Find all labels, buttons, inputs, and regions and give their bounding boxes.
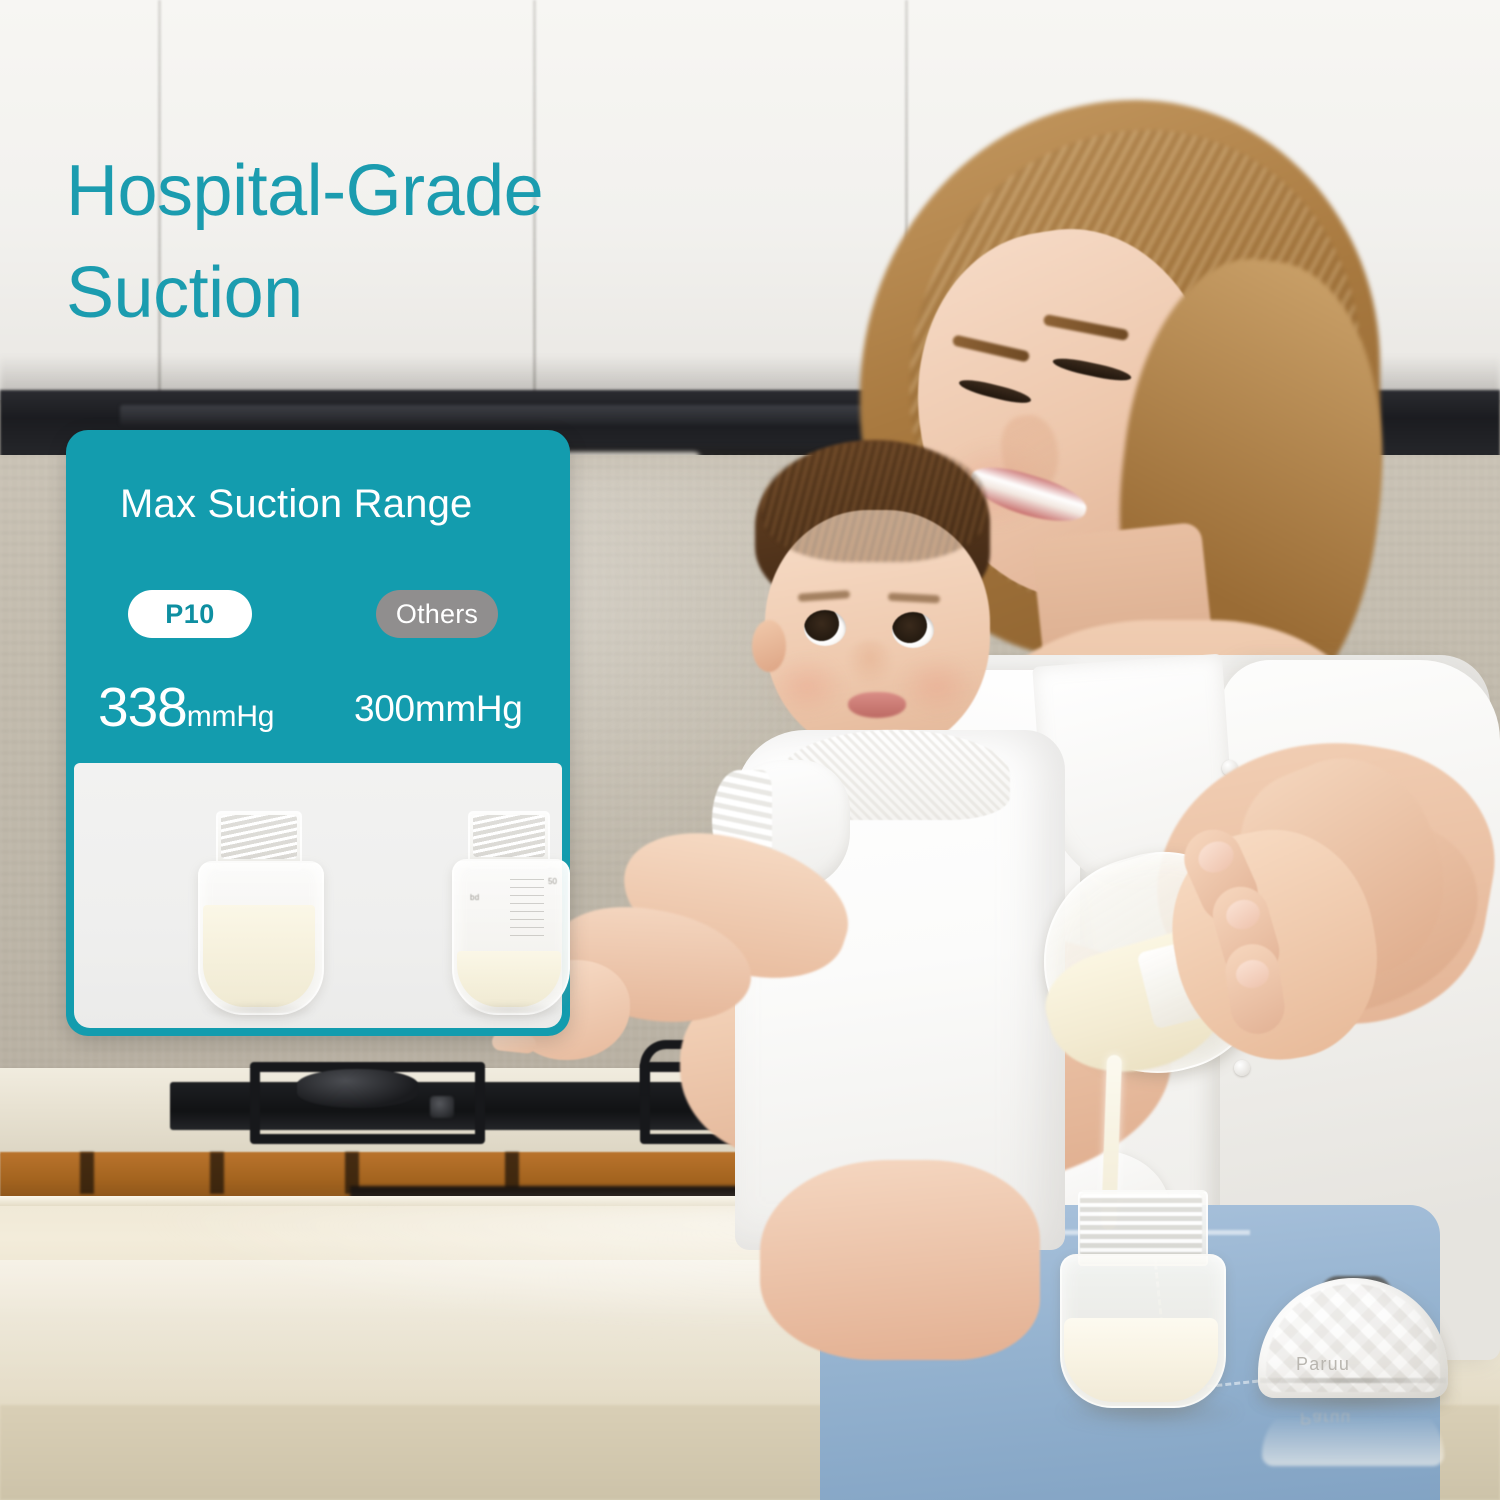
bottle-threads [221,815,297,859]
baby-eye [892,612,934,648]
bottle-others: bd 50 [452,811,566,1011]
bottle-scale-number: 50 [548,877,557,886]
baby-hair-strands [762,442,987,562]
baby-figure [580,440,1080,1300]
bottle-measurement-marks [510,879,544,943]
baby-nose [846,640,894,686]
range-hood-panel [120,405,880,425]
bottle-threads [1080,1194,1202,1256]
competitor-badge-others: Others [376,590,498,638]
product-marketing-image: Paruu Paruu Hospital-Grade Suction Max S… [0,0,1500,1500]
wood-slot [80,1152,94,1194]
baby-leg [760,1160,1040,1360]
milk-bottle-on-counter [1060,1190,1235,1405]
product-badge-p10: P10 [128,590,252,638]
max-suction-range-card: Max Suction Range P10 Others 338 mmHg 30… [66,430,570,1036]
baby-eye [804,610,846,646]
pump-seam-band [1260,1378,1446,1383]
baby-cheek [898,655,976,717]
shirt-button [1234,1060,1250,1076]
pump-brand-logo-reflection: Paruu [1300,1408,1351,1428]
bottle-p10 [198,811,320,1011]
pump-brand-logo: Paruu [1296,1354,1350,1375]
card-title: Max Suction Range [120,482,472,527]
bottle-comparison-panel: bd 50 [74,763,562,1028]
bottle-milk-level [1064,1318,1218,1402]
product-suction-number: 338 [98,675,187,739]
bottle-shadow [451,1003,567,1017]
pump-reflection [1262,1400,1444,1466]
product-suction-unit: mmHg [187,700,275,734]
wearable-breast-pump: Paruu [1258,1278,1448,1403]
baby-cheek [768,655,846,717]
wood-slot [210,1152,224,1194]
product-suction-value: 338 mmHg [98,675,274,739]
product-badge-label: P10 [165,599,215,630]
competitor-badge-label: Others [396,599,478,630]
bottle-threads [473,815,545,857]
burner-cap [297,1069,417,1107]
bottle-scale-label: bd [470,893,480,902]
baby-mouth [848,692,906,718]
cooktop-knob [430,1096,454,1118]
page-title: Hospital-Grade Suction [66,140,826,344]
competitor-suction-value: 300mmHg [354,688,523,730]
bottle-milk-level-high [203,905,315,1007]
bottle-shadow [201,1003,317,1017]
